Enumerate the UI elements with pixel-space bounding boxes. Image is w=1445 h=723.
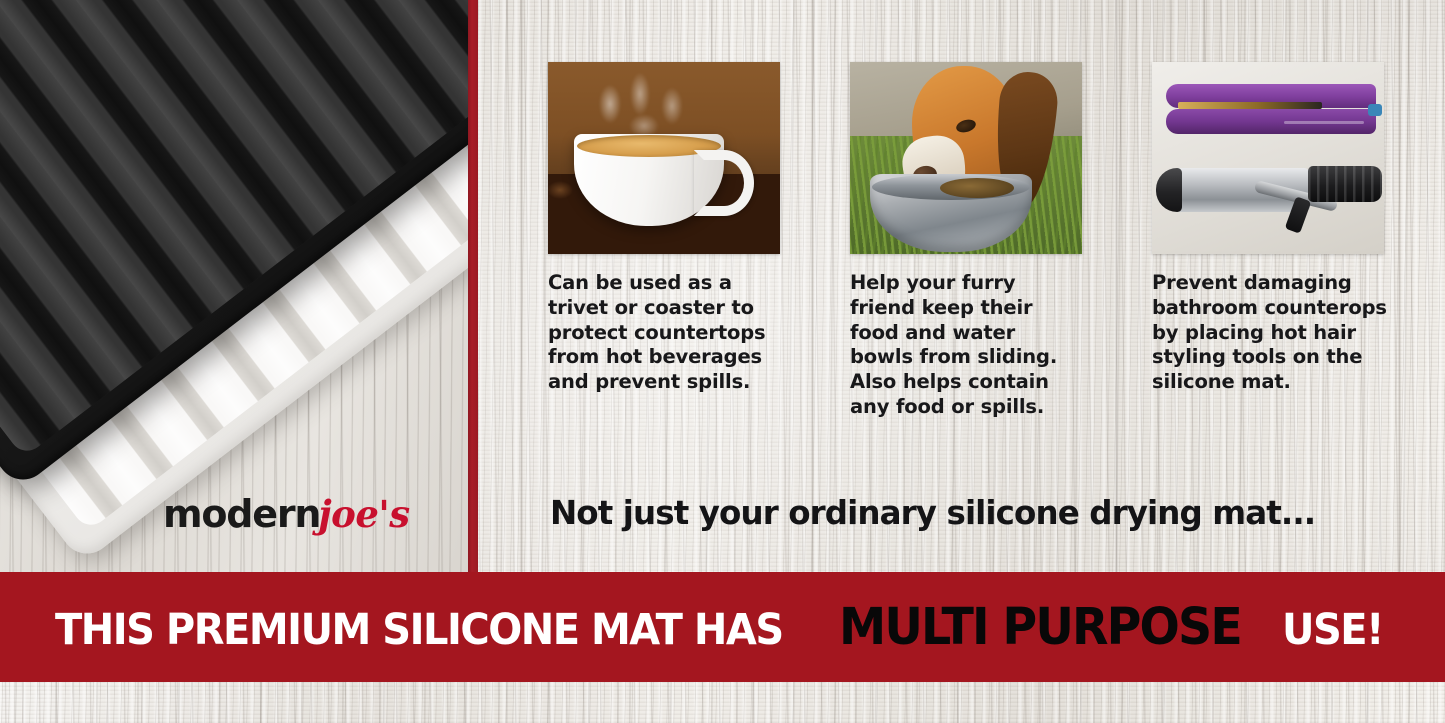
flat-iron [1164, 84, 1380, 136]
curling-iron-barrel-tip [1156, 168, 1182, 212]
curling-iron [1158, 160, 1382, 230]
wood-background-bottom [0, 682, 1445, 723]
logo-primary-text: modern [163, 492, 320, 536]
feature-column-hair-tools: Prevent damaging bathroom counterops by … [1152, 62, 1384, 420]
bowl-food [940, 178, 1014, 198]
product-marketing-banner: Can be used as a trivet or coaster to pr… [0, 0, 1445, 723]
cup-handle [694, 150, 754, 216]
bottom-red-banner: THIS PREMIUM SILICONE MAT HAS MULTI PURP… [0, 572, 1445, 682]
curling-iron-handle [1308, 166, 1382, 202]
wood-strip-bottom [0, 682, 1445, 723]
dog-bowl-photo [850, 62, 1082, 254]
banner-headline: THIS PREMIUM SILICONE MAT HAS MULTI PURP… [55, 598, 1390, 657]
logo-accent-text: joe's [318, 492, 409, 536]
vertical-red-divider [468, 0, 478, 572]
feature-column-trivet: Can be used as a trivet or coaster to pr… [548, 62, 780, 420]
feature-column-pet-bowl: Help your furry friend keep their food a… [850, 62, 1082, 420]
flat-iron-cord-tip [1368, 104, 1382, 116]
handle-grip-ridges [1308, 166, 1382, 202]
feature-caption: Can be used as a trivet or coaster to pr… [548, 271, 780, 395]
feature-caption: Help your furry friend keep their food a… [850, 271, 1082, 420]
tagline: Not just your ordinary silicone drying m… [550, 494, 1315, 532]
flat-iron-heating-plate [1178, 102, 1322, 109]
steam-wisps [588, 68, 706, 140]
brand-logo: modern joe's [163, 492, 410, 536]
banner-text-black-emphasis: MULTI PURPOSE [839, 598, 1241, 657]
hair-tools-photo [1152, 62, 1384, 254]
feature-columns: Can be used as a trivet or coaster to pr… [548, 62, 1416, 420]
flat-iron-seam [1284, 121, 1364, 124]
silicone-drying-mats-photo [0, 0, 468, 572]
banner-text-white-lead: THIS PREMIUM SILICONE MAT HAS [55, 605, 783, 655]
banner-text-white-trail: USE! [1282, 605, 1383, 655]
feature-caption: Prevent damaging bathroom counterops by … [1152, 271, 1404, 395]
coffee-cup-photo [548, 62, 780, 254]
